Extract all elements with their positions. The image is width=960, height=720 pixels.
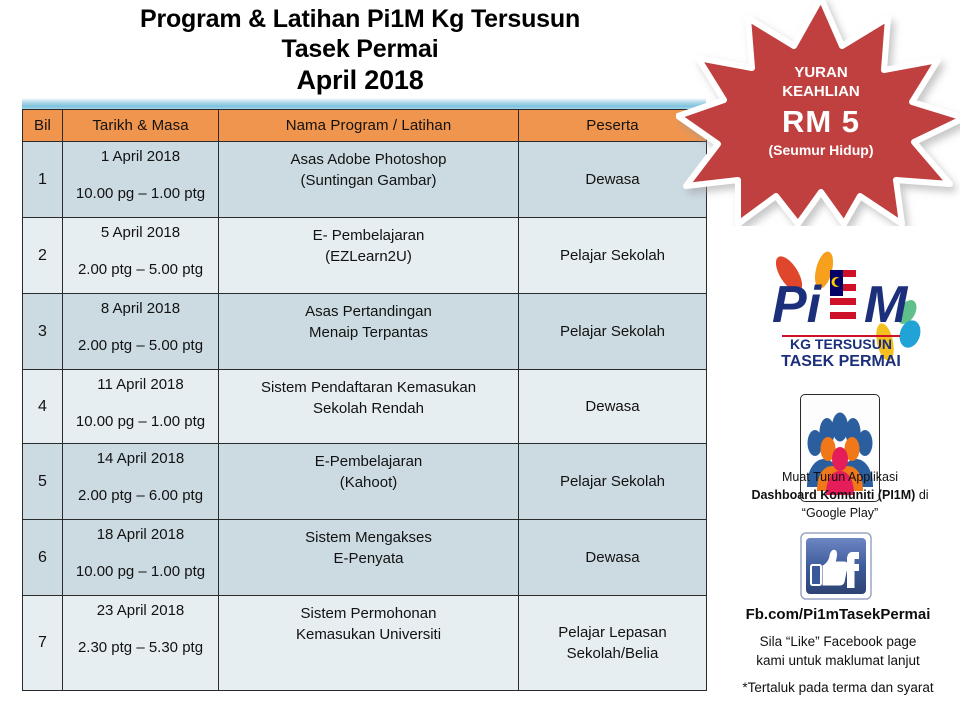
schedule-table: Bil Tarikh & Masa Nama Program / Latihan… (22, 109, 707, 691)
cell-time: 10.00 pg – 1.00 ptg (71, 563, 210, 580)
table-header: Bil Tarikh & Masa Nama Program / Latihan… (23, 110, 707, 142)
cell-program: Asas Adobe Photoshop (Suntingan Gambar) (219, 142, 519, 218)
facebook-note: Sila “Like” Facebook page kami untuk mak… (716, 632, 960, 670)
svg-text:M: M (864, 276, 909, 334)
cell-peserta: Dewasa (519, 520, 707, 596)
column-header-tarikh: Tarikh & Masa (63, 110, 219, 142)
cell-peserta: Pelajar Sekolah (519, 294, 707, 370)
cell-date: 8 April 2018 (71, 300, 210, 317)
program-line-1: Sistem Permohonan (219, 603, 518, 624)
logo-sub-1: KG TERSUSUN (790, 336, 892, 352)
facebook-url[interactable]: Fb.com/Pi1mTasekPermai (716, 606, 960, 623)
facebook-note-line-1: Sila “Like” Facebook page (716, 632, 960, 651)
cell-tarikh: 5 April 2018 2.00 ptg – 5.00 ptg (63, 218, 219, 294)
cell-time: 2.00 ptg – 5.00 ptg (71, 261, 210, 278)
poster-title: Program & Latihan Pi1M Kg Tersusun Tasek… (20, 4, 700, 97)
cell-program: Sistem Permohonan Kemasukan Universiti (219, 596, 519, 691)
table-body: 1 1 April 2018 10.00 pg – 1.00 ptg Asas … (23, 142, 707, 691)
program-line-2: (Suntingan Gambar) (219, 170, 518, 191)
cell-peserta: Dewasa (519, 370, 707, 444)
app-promo-line-2: Dashboard Komuniti (PI1M) di (722, 486, 958, 504)
title-line-2: Tasek Permai (20, 34, 700, 64)
cell-tarikh: 11 April 2018 10.00 pg – 1.00 ptg (63, 370, 219, 444)
column-header-bil: Bil (23, 110, 63, 142)
cell-date: 18 April 2018 (71, 526, 210, 543)
program-line-2: E-Penyata (219, 548, 518, 569)
decorative-blue-band (22, 98, 706, 109)
cell-date: 23 April 2018 (71, 602, 210, 619)
column-header-nama: Nama Program / Latihan (219, 110, 519, 142)
program-line-1: E- Pembelajaran (219, 225, 518, 246)
membership-fee-starburst: YURAN KEAHLIAN RM 5 (Seumur Hidup) (676, 0, 960, 226)
cell-peserta: Pelajar Sekolah (519, 444, 707, 520)
program-line-2: (Kahoot) (219, 472, 518, 493)
cell-time: 10.00 pg – 1.00 ptg (71, 185, 210, 202)
title-line-3: April 2018 (20, 64, 700, 97)
table-row: 4 11 April 2018 10.00 pg – 1.00 ptg Sist… (23, 370, 707, 444)
cell-bil: 4 (23, 370, 63, 444)
cell-time: 2.00 ptg – 5.00 ptg (71, 337, 210, 354)
cell-time: 2.30 ptg – 5.30 ptg (71, 639, 210, 656)
pi1m-logo: Pi 1 M KG TERSUSUN TASEK PERMAI (752, 250, 937, 370)
program-line-2: Menaip Terpantas (219, 322, 518, 343)
cell-tarikh: 23 April 2018 2.30 ptg – 5.30 ptg (63, 596, 219, 691)
cell-tarikh: 8 April 2018 2.00 ptg – 5.00 ptg (63, 294, 219, 370)
cell-date: 11 April 2018 (71, 376, 210, 393)
facebook-note-line-2: kami untuk maklumat lanjut (716, 651, 960, 670)
cell-bil: 6 (23, 520, 63, 596)
table-row: 2 5 April 2018 2.00 ptg – 5.00 ptg E- Pe… (23, 218, 707, 294)
logo-sub-2: TASEK PERMAI (781, 353, 901, 370)
cell-bil: 7 (23, 596, 63, 691)
cell-time: 10.00 pg – 1.00 ptg (71, 413, 210, 430)
peserta-line-2: Sekolah/Belia (519, 643, 706, 664)
table-row: 1 1 April 2018 10.00 pg – 1.00 ptg Asas … (23, 142, 707, 218)
cell-date: 14 April 2018 (71, 450, 210, 467)
title-line-1: Program & Latihan Pi1M Kg Tersusun (20, 4, 700, 34)
cell-bil: 2 (23, 218, 63, 294)
app-promo-tail: di (915, 488, 928, 502)
program-line-1: Asas Adobe Photoshop (219, 149, 518, 170)
cell-bil: 5 (23, 444, 63, 520)
disclaimer-text: *Tertaluk pada terma dan syarat (716, 680, 960, 695)
schedule-table-wrapper: Bil Tarikh & Masa Nama Program / Latihan… (22, 98, 706, 691)
table-row: 6 18 April 2018 10.00 pg – 1.00 ptg Sist… (23, 520, 707, 596)
cell-bil: 3 (23, 294, 63, 370)
table-row: 3 8 April 2018 2.00 ptg – 5.00 ptg Asas … (23, 294, 707, 370)
cell-program: E- Pembelajaran (EZLearn2U) (219, 218, 519, 294)
table-row: 7 23 April 2018 2.30 ptg – 5.30 ptg Sist… (23, 596, 707, 691)
cell-program: Asas Pertandingan Menaip Terpantas (219, 294, 519, 370)
cell-tarikh: 1 April 2018 10.00 pg – 1.00 ptg (63, 142, 219, 218)
app-promo-caption: Muat Turun Applikasi Dashboard Komuniti … (722, 468, 958, 522)
facebook-like-icon[interactable] (800, 532, 874, 602)
table-header-row: Bil Tarikh & Masa Nama Program / Latihan… (23, 110, 707, 142)
program-line-2: (EZLearn2U) (219, 246, 518, 267)
table-row: 5 14 April 2018 2.00 ptg – 6.00 ptg E-Pe… (23, 444, 707, 520)
cell-program: Sistem Mengakses E-Penyata (219, 520, 519, 596)
program-line-1: E-Pembelajaran (219, 451, 518, 472)
app-promo-name: Dashboard Komuniti (PI1M) (751, 488, 915, 502)
cell-date: 5 April 2018 (71, 224, 210, 241)
program-line-1: Sistem Mengakses (219, 527, 518, 548)
svg-text:Pi: Pi (772, 276, 823, 334)
cell-program: Sistem Pendaftaran Kemasukan Sekolah Ren… (219, 370, 519, 444)
poster-canvas: Program & Latihan Pi1M Kg Tersusun Tasek… (0, 0, 960, 720)
cell-time: 2.00 ptg – 6.00 ptg (71, 487, 210, 504)
app-promo-line-1: Muat Turun Applikasi (722, 468, 958, 486)
app-promo-line-3: “Google Play” (722, 504, 958, 522)
cell-peserta: Pelajar Sekolah (519, 218, 707, 294)
program-line-1: Asas Pertandingan (219, 301, 518, 322)
program-line-2: Kemasukan Universiti (219, 624, 518, 645)
peserta-line-1: Pelajar Lepasan (519, 622, 706, 643)
program-line-1: Sistem Pendaftaran Kemasukan (219, 377, 518, 398)
cell-date: 1 April 2018 (71, 148, 210, 165)
cell-peserta: Pelajar Lepasan Sekolah/Belia (519, 596, 707, 691)
cell-tarikh: 14 April 2018 2.00 ptg – 6.00 ptg (63, 444, 219, 520)
cell-tarikh: 18 April 2018 10.00 pg – 1.00 ptg (63, 520, 219, 596)
program-line-2: Sekolah Rendah (219, 398, 518, 419)
cell-bil: 1 (23, 142, 63, 218)
cell-program: E-Pembelajaran (Kahoot) (219, 444, 519, 520)
